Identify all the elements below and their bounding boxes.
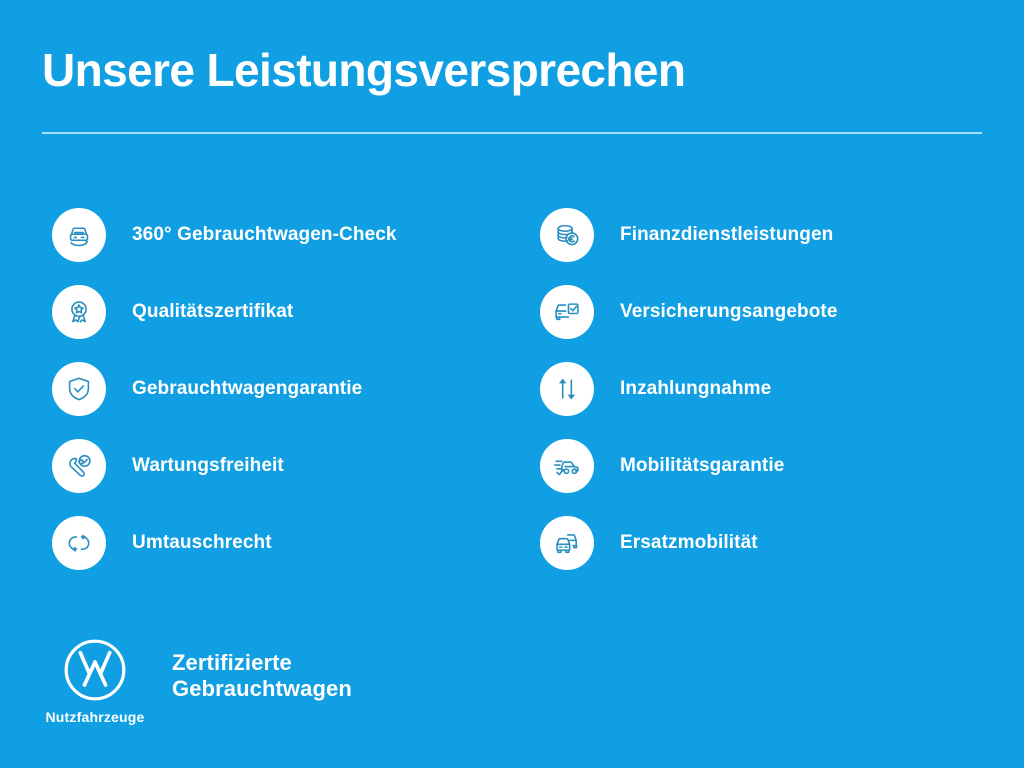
feature-label: Umtauschrecht (132, 532, 272, 554)
header: Unsere Leistungsversprechen (42, 46, 982, 94)
feature-label: Finanzdienstleistungen (620, 224, 833, 246)
shield-check-icon (52, 362, 106, 416)
feature-item[interactable]: Qualitätszertifikat (52, 273, 520, 350)
coins-euro-icon (540, 208, 594, 262)
brand-subtitle: Nutzfahrzeuge (45, 709, 144, 725)
slide-root: Unsere Leistungsversprechen 3 (0, 0, 1024, 768)
feature-item[interactable]: 360° Gebrauchtwagen-Check (52, 196, 520, 273)
feature-item[interactable]: Gebrauchtwagengarantie (52, 350, 520, 427)
feature-label: 360° Gebrauchtwagen-Check (132, 224, 397, 246)
feature-label: Ersatzmobilität (620, 532, 758, 554)
page-title: Unsere Leistungsversprechen (42, 46, 982, 94)
feature-item[interactable]: Versicherungsangebote (540, 273, 1024, 350)
feature-label: Mobilitätsgarantie (620, 455, 784, 477)
feature-item[interactable]: Umtauschrecht (52, 504, 520, 581)
feature-item[interactable]: Inzahlungnahme (540, 350, 1024, 427)
feature-item[interactable]: Finanzdienstleistungen (540, 196, 1024, 273)
feature-item[interactable]: Mobilitätsgarantie (540, 427, 1024, 504)
features-grid: 360° Gebrauchtwagen-Check Qualitätszerti… (0, 196, 1024, 581)
car-speed-check-icon (540, 439, 594, 493)
feature-label: Wartungsfreiheit (132, 455, 284, 477)
features-column-right: Finanzdienstleistungen Versicherungsange… (520, 196, 1024, 581)
feature-label: Versicherungsangebote (620, 301, 838, 323)
feature-label: Gebrauchtwagengarantie (132, 378, 362, 400)
header-divider (42, 132, 982, 134)
exchange-arrows-icon (52, 516, 106, 570)
award-rosette-icon (52, 285, 106, 339)
footer-tagline-line2: Gebrauchtwagen (172, 676, 352, 702)
two-cars-icon (540, 516, 594, 570)
volkswagen-logo-icon (63, 638, 127, 702)
wrench-check-icon (52, 439, 106, 493)
footer-tagline-line1: Zertifizierte (172, 650, 352, 676)
car-360-check-icon (52, 208, 106, 262)
feature-label: Inzahlungnahme (620, 378, 771, 400)
feature-item[interactable]: Ersatzmobilität (540, 504, 1024, 581)
footer: Nutzfahrzeuge Zertifizierte Gebrauchtwag… (36, 638, 352, 725)
car-document-check-icon (540, 285, 594, 339)
feature-label: Qualitätszertifikat (132, 301, 293, 323)
footer-tagline: Zertifizierte Gebrauchtwagen (172, 650, 352, 703)
brand-lockup: Nutzfahrzeuge (36, 638, 154, 725)
features-column-left: 360° Gebrauchtwagen-Check Qualitätszerti… (0, 196, 520, 581)
up-down-arrows-icon (540, 362, 594, 416)
feature-item[interactable]: Wartungsfreiheit (52, 427, 520, 504)
